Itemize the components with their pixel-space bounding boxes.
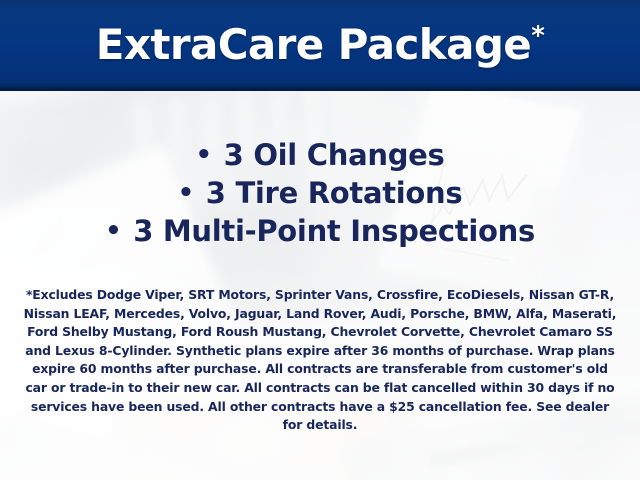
disclaimer-text: *Excludes Dodge Viper, SRT Motors, Sprin…	[22, 286, 618, 435]
benefits-list: • 3 Oil Changes • 3 Tire Rotations • 3 M…	[0, 136, 640, 250]
benefit-label: 3 Tire Rotations	[206, 176, 463, 210]
list-item: • 3 Oil Changes	[0, 136, 640, 174]
extracare-package-ad: ExtraCare Package* • 3 Oil Changes • 3 T…	[0, 0, 640, 480]
header-banner: ExtraCare Package*	[0, 0, 640, 91]
benefit-label: 3 Multi-Point Inspections	[133, 214, 535, 248]
page-title-text: ExtraCare Package	[96, 20, 531, 69]
bullet-dot-icon: •	[178, 178, 194, 208]
benefit-label: 3 Oil Changes	[224, 138, 445, 172]
bullet-dot-icon: •	[196, 140, 212, 170]
list-item: • 3 Multi-Point Inspections	[0, 212, 640, 250]
title-asterisk: *	[531, 21, 544, 51]
list-item: • 3 Tire Rotations	[0, 174, 640, 212]
page-title: ExtraCare Package*	[96, 24, 544, 66]
bullet-dot-icon: •	[105, 216, 121, 246]
